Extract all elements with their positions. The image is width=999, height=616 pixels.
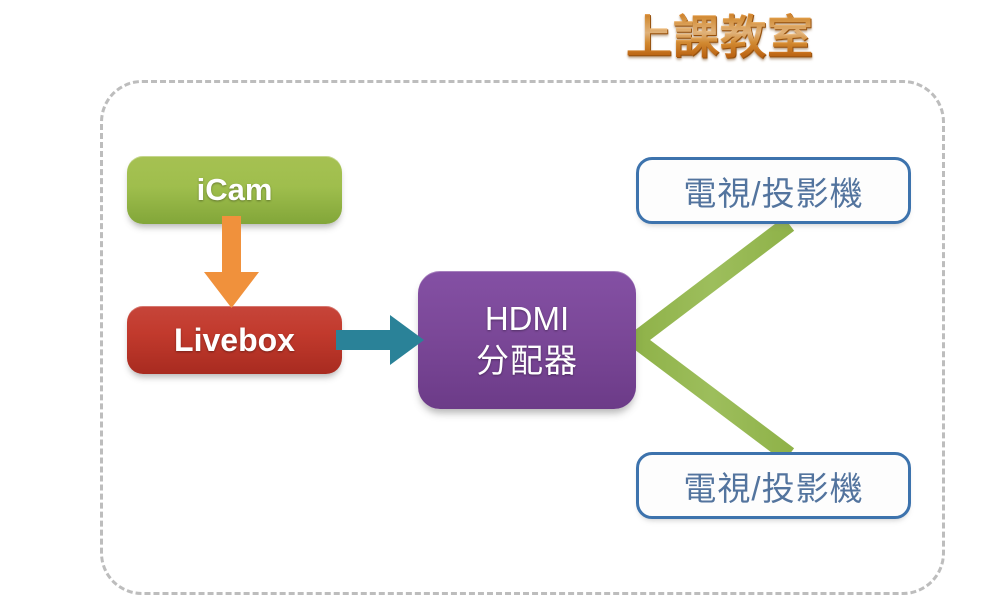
node-hdmi-splitter-label-line1: HDMI <box>485 298 569 340</box>
diagram-canvas: iCam Livebox HDMI 分配器 電視/投影機 電視/投影機 上課教室 <box>0 0 999 616</box>
node-display-bottom-label: 電視/投影機 <box>683 462 863 510</box>
node-display-bottom[interactable]: 電視/投影機 <box>636 452 911 519</box>
node-livebox[interactable]: Livebox <box>127 306 342 374</box>
node-hdmi-splitter[interactable]: HDMI 分配器 <box>418 271 636 409</box>
node-livebox-label: Livebox <box>174 322 295 359</box>
node-hdmi-splitter-label-line2: 分配器 <box>476 340 578 382</box>
node-display-top[interactable]: 電視/投影機 <box>636 157 911 224</box>
node-icam[interactable]: iCam <box>127 156 342 224</box>
page-title: 上課教室 <box>600 8 840 70</box>
node-display-top-label: 電視/投影機 <box>683 167 863 215</box>
node-icam-label: iCam <box>197 172 273 208</box>
